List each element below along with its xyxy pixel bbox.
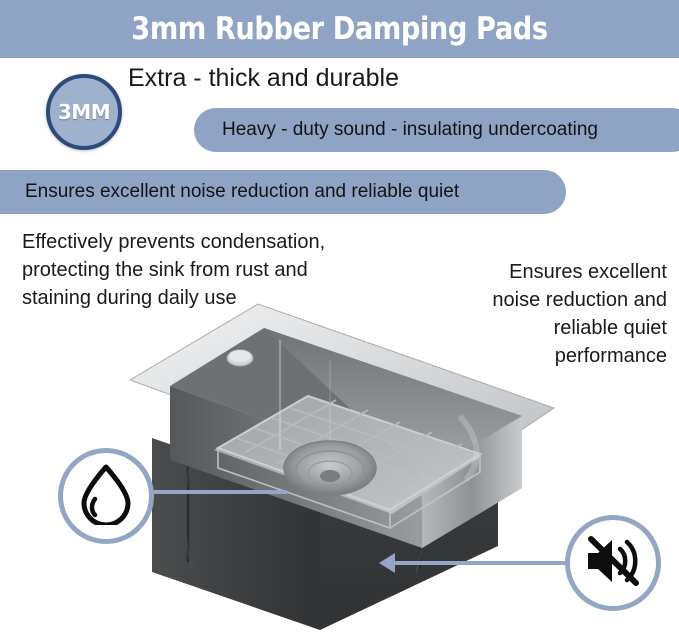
infographic-root: 3mm Rubber Damping Pads 3MM Extra - thic… — [0, 0, 679, 638]
thickness-badge-label: 3MM — [50, 78, 118, 146]
thickness-badge: 3MM — [46, 74, 122, 150]
water-drop-callout — [58, 448, 154, 544]
connector-line-drop — [152, 490, 287, 494]
headline-extra-thick: Extra - thick and durable — [128, 64, 399, 93]
mute-speaker-icon — [582, 533, 644, 594]
noise-reduction-pill: Ensures excellent noise reduction and re… — [0, 170, 566, 214]
noise-reduction-pill-label: Ensures excellent noise reduction and re… — [25, 181, 459, 203]
header-banner: 3mm Rubber Damping Pads — [0, 0, 679, 58]
connector-line-mute — [392, 561, 567, 565]
water-drop-icon — [78, 463, 134, 530]
heavy-duty-pill-label: Heavy - duty sound - insulating undercoa… — [222, 119, 598, 141]
connector-arrowhead-mute — [379, 553, 395, 573]
mute-callout — [565, 515, 661, 611]
heavy-duty-pill: Heavy - duty sound - insulating undercoa… — [194, 108, 679, 152]
page-title: 3mm Rubber Damping Pads — [41, 0, 639, 58]
sink-drain — [284, 441, 376, 495]
stainless-steel-sink-image — [130, 300, 570, 635]
